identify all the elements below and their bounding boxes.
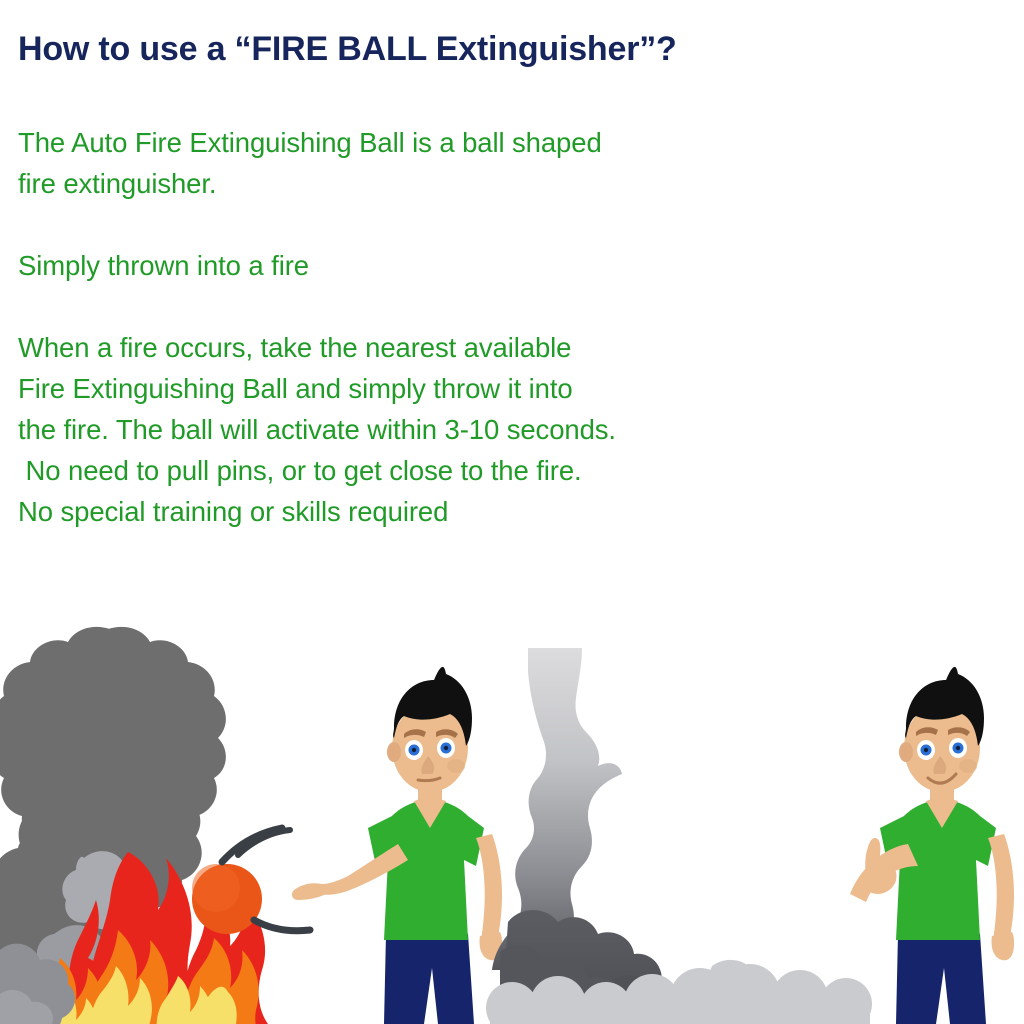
pants [384, 934, 474, 1024]
resting-hand [991, 932, 1014, 960]
body-line-8: No special training or skills required [18, 496, 448, 528]
smoke-base-cloud [486, 910, 872, 1024]
body-line-2: fire extinguisher. [18, 168, 216, 200]
body-line-6: the fire. The ball will activate within … [18, 414, 616, 446]
body-line-1: The Auto Fire Extinguishing Ball is a ba… [18, 127, 602, 159]
body-line-4: When a fire occurs, take the nearest ava… [18, 332, 571, 364]
person-throwing [292, 667, 502, 1024]
page-title: How to use a “FIRE BALL Extinguisher”? [18, 30, 677, 69]
body-line-5: Fire Extinguishing Ball and simply throw… [18, 373, 573, 405]
illustration [0, 600, 1024, 1024]
throwing-hand [292, 883, 326, 900]
body-line-3: Simply thrown into a fire [18, 250, 309, 282]
fire-ball [192, 864, 262, 934]
slide-canvas: How to use a “FIRE BALL Extinguisher”? T… [0, 0, 1024, 1024]
ear [387, 742, 401, 762]
body-line-7: No need to pull pins, or to get close to… [18, 455, 582, 487]
person-thumbs-up [850, 667, 1014, 1024]
resting-arm [476, 834, 502, 944]
after-scene [486, 648, 1014, 1024]
resting-arm [988, 834, 1014, 944]
pants [896, 934, 986, 1024]
before-scene [0, 627, 502, 1024]
ear [899, 742, 913, 762]
